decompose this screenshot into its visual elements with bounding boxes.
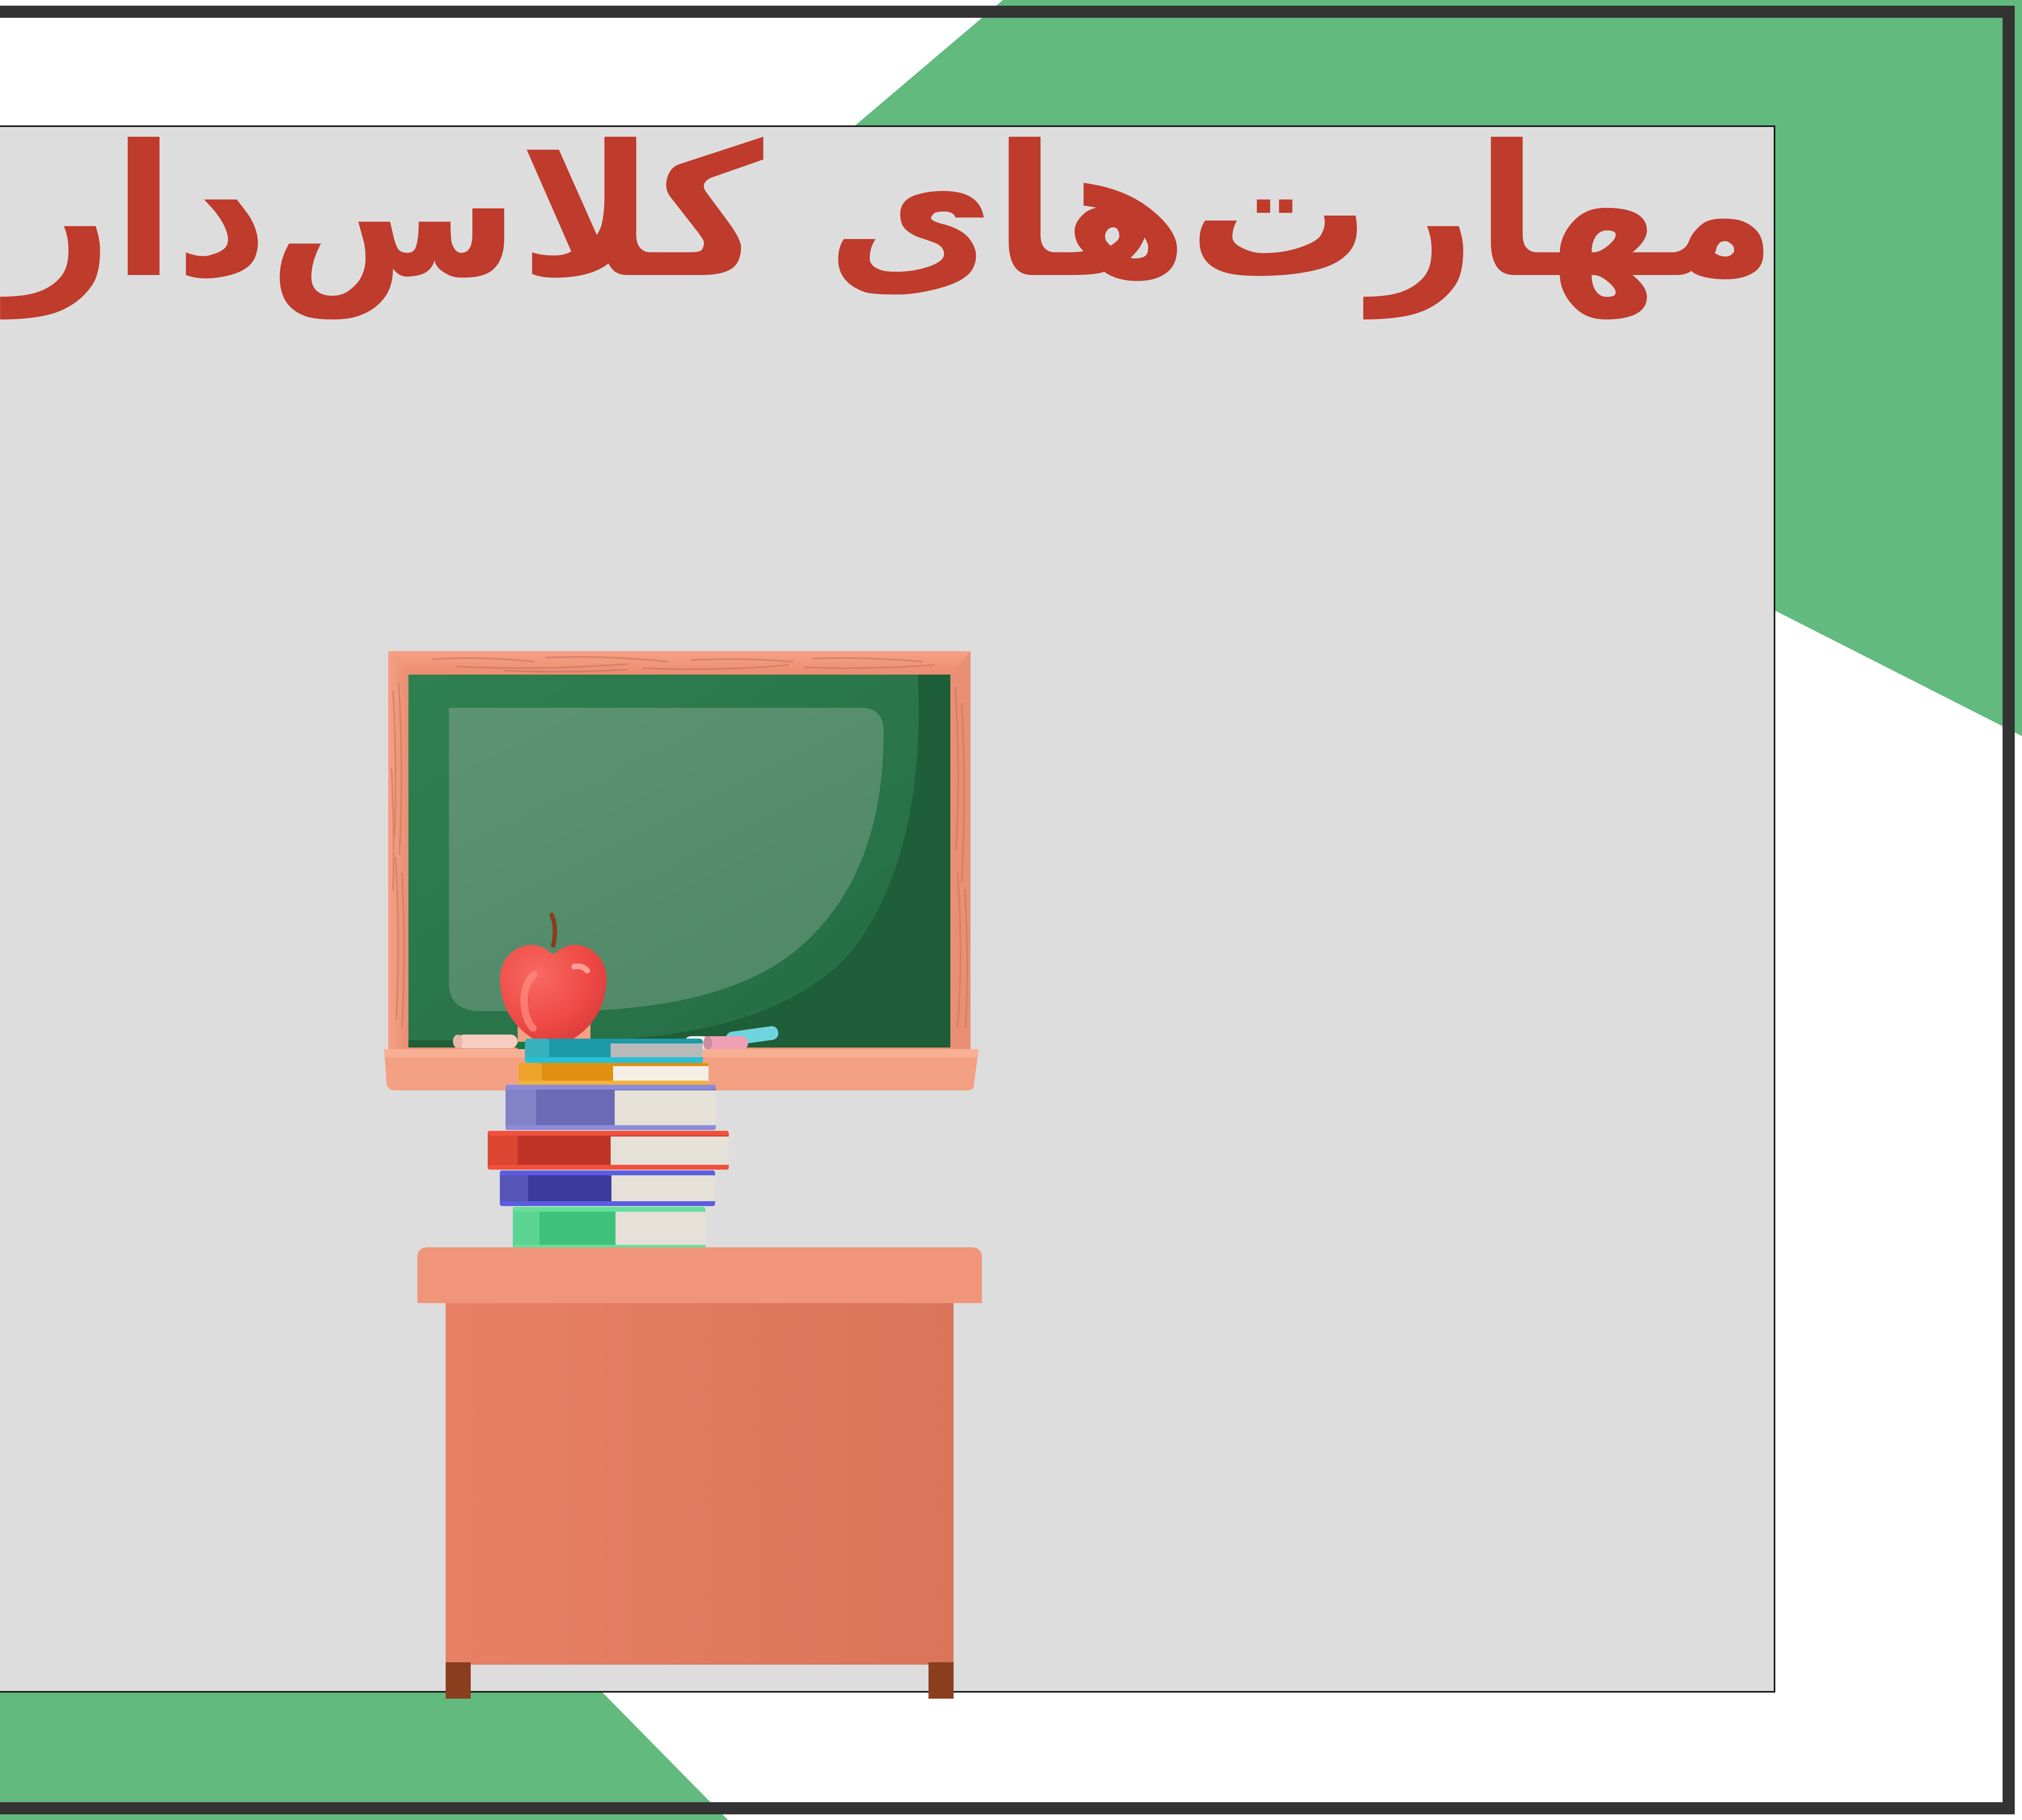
book-stack bbox=[488, 1039, 729, 1250]
desk-leg-left bbox=[446, 1662, 471, 1699]
book-navy bbox=[500, 1170, 715, 1206]
desk-body bbox=[446, 1303, 954, 1665]
book-red bbox=[488, 1131, 729, 1170]
chalkboard-surface bbox=[408, 675, 950, 1048]
desk-leg-right bbox=[929, 1662, 954, 1699]
chalkboard bbox=[384, 651, 979, 1090]
book-orange bbox=[518, 1063, 709, 1086]
slide-canvas: مهارت‌های کلاس‌داری bbox=[0, 0, 2022, 1820]
teacher-desk bbox=[417, 1247, 982, 1699]
chalk-peach bbox=[453, 1035, 518, 1048]
book-green bbox=[513, 1207, 705, 1250]
classroom-illustration bbox=[384, 647, 1233, 1699]
accent-band-bottom-left-foot bbox=[0, 1693, 728, 1820]
desk-top bbox=[417, 1247, 982, 1303]
accent-band-top-right-tail bbox=[1775, 125, 2022, 736]
book-teal bbox=[525, 1039, 703, 1063]
book-purple bbox=[505, 1085, 716, 1130]
